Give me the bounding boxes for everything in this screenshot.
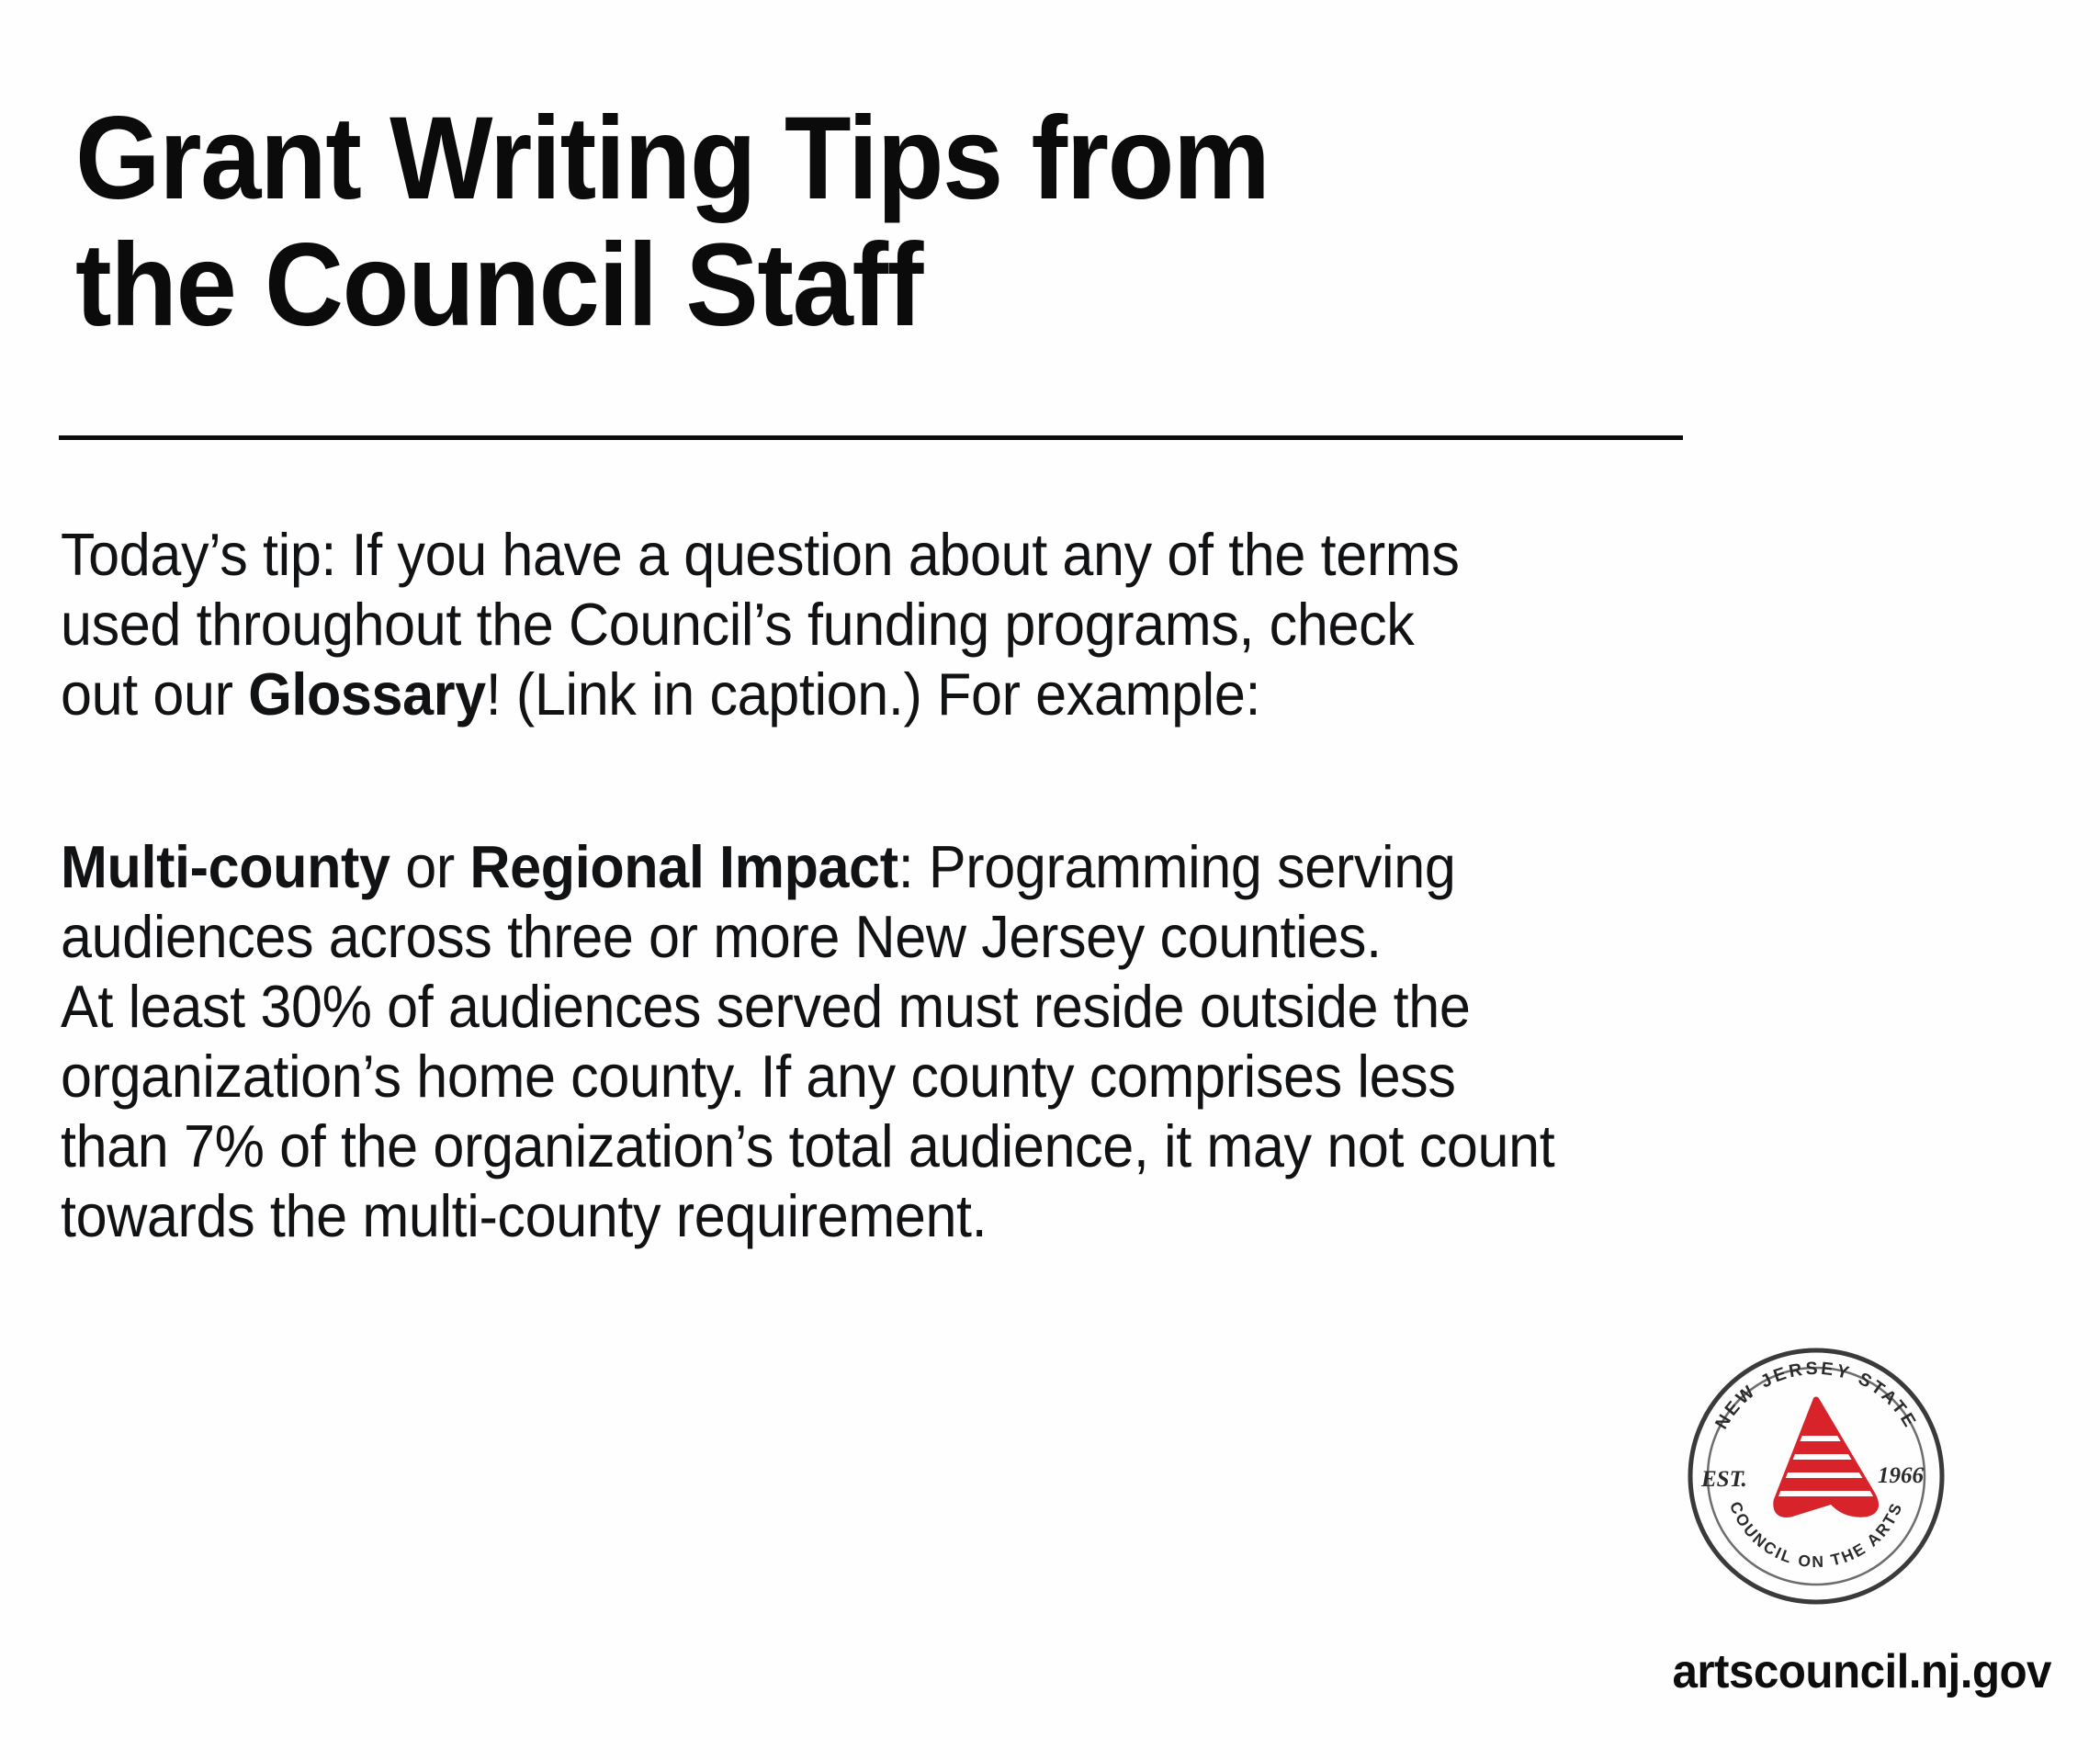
title-divider [59,435,1683,440]
text-line: Today’s tip: If you have a question abou… [61,520,1874,590]
text-line: than 7% of the organization’s total audi… [61,1111,1874,1181]
website-url[interactable]: artscouncil.nj.gov [1673,1644,2039,1699]
svg-text:COUNCIL ON THE ARTS: COUNCIL ON THE ARTS [1726,1499,1906,1571]
seal-red-a-mark [1761,1400,1899,1514]
emphasized-term: Multi-county [61,833,390,900]
page-title: Grant Writing Tips from the Council Staf… [75,96,1613,349]
tip-paragraph: Today’s tip: If you have a question abou… [61,520,1874,729]
text-line: organization’s home county. If any count… [61,1042,1874,1111]
text-line: towards the multi-county requirement. [61,1181,1874,1251]
text-run: out our [61,660,248,728]
text-line: Multi-county or Regional Impact: Program… [61,832,1874,902]
seal-year-label: 1966 [1878,1463,1925,1488]
poster-content: Grant Writing Tips from the Council Staf… [0,0,2100,1760]
nj-arts-council-seal-logo: NEW JERSEY STATE COUNCIL ON THE ARTS EST… [1683,1343,1949,1609]
text-line: At least 30% of audiences served must re… [61,972,1874,1042]
text-line: out our Glossary! (Link in caption.) For… [61,660,1874,729]
emphasized-term: Regional Impact [469,833,898,900]
text-run: ! (Link in caption.) For example: [486,660,1260,728]
definition-paragraph: Multi-county or Regional Impact: Program… [61,832,1874,1251]
text-line: audiences across three or more New Jerse… [61,902,1874,972]
seal-est-label: EST. [1700,1467,1747,1492]
emphasized-term: Glossary [248,660,486,728]
text-run: : Programming serving [898,833,1456,900]
text-line: used throughout the Council’s funding pr… [61,590,1874,660]
poster-canvas: Grant Writing Tips from the Council Staf… [0,0,2100,1760]
seal-arc-bottom-text: COUNCIL ON THE ARTS [1726,1499,1906,1571]
text-run: or [390,833,470,900]
